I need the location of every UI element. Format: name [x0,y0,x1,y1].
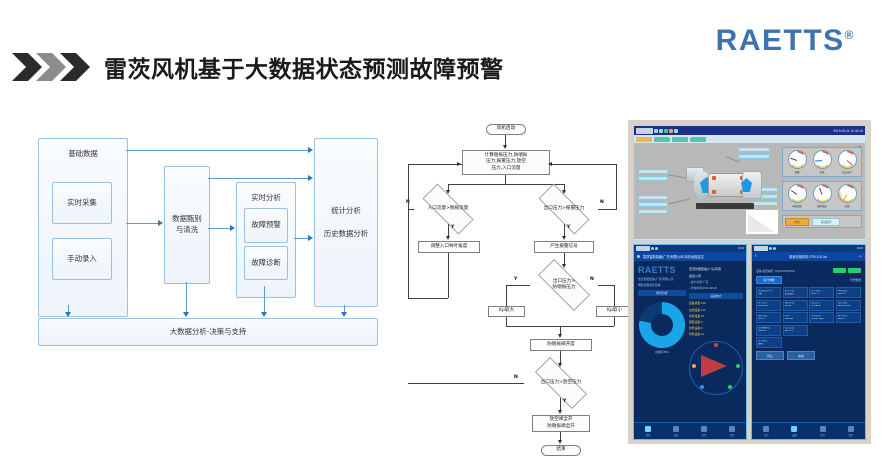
bd-box-manual-entry: 手动录入 [52,238,112,280]
mobile-b-navbar: ‹ 磁悬浮鼓风机 RTB-100-9a ••• [752,252,865,261]
fc-node-alarm-signal: 产生报警信号 [534,241,594,253]
fc-line-kpsmall-down [614,317,615,326]
scada-toolbar-icon-1[interactable] [654,129,658,133]
fc-label-full-open-2: 防喘振阀全开 [547,424,575,430]
mobile-a-nav-title: 雷茨智能装备(广东)有限公司-网机远程监控 [643,254,704,259]
bd-down-arrow-3 [261,312,267,317]
home-icon [763,426,769,432]
mobile-a-section-detail: 设备统计 [689,293,743,299]
fc-label-d2-y: Y [567,225,570,230]
bd-label-fault-diagnosis: 故障诊断 [251,258,281,269]
bd-label-history: 历史数据分析 [324,229,368,240]
triple-chevron-right-icon [12,53,94,81]
fc-label-d4: 出口压力>放空压力 [541,380,582,386]
fc-label-d2: 出口压力>报警压力 [544,206,585,212]
status-badge-normal [848,268,861,273]
control-logic-flowchart: 风机启动 计算喘振压力,防喘振 压力,报警压力,放空 压力,入口流量 入口流量>… [404,120,624,455]
mobile-b-tab-device[interactable]: 设备 [780,423,808,439]
bd-connector-1 [126,150,309,151]
bd-box-screen-clean: 数据甄别 与清洗 [164,166,210,284]
scada-tab-params[interactable] [690,137,706,142]
radar-point-2 [692,364,696,368]
bd-label-fault-warning: 故障预警 [251,220,281,231]
fc-arrow-end [558,440,562,444]
stat-row-1: 设备总数 128 [689,301,743,305]
callout-current [638,195,668,200]
device-metric-grid: 运转累积时间2天 运行状态正常运行 进气温度31.2℃ 电机温度63.8℃ 排气… [756,287,861,336]
mobile-b-tab-user[interactable]: 我的 [837,423,865,439]
scada-start-button[interactable]: 启动 [785,218,809,226]
fc-arrow-loop-left [457,162,461,166]
mobile-a-tab-home[interactable]: 首页 [634,423,662,439]
mobile-b-tabbar: 首页 设备 报警 我的 [752,422,865,439]
fc-node-full-open: 放空阀全开 防喘振阀全开 [532,415,590,432]
bd-label-screen-clean-2: 与清洗 [176,225,198,236]
bd-box-bigdata-support: 大数据分析-决策与支持 [38,318,378,346]
gauge-group-row2: 电机温度 轴承温度 转速 [782,181,862,211]
bd-box-fault-diagnosis: 故障诊断 [244,246,288,280]
radar-point-3 [736,364,740,368]
fc-line-loop-left-h [408,164,462,165]
page-title: 雷茨风机基于大数据状态预测故障预警 [104,50,504,84]
gauge-outlet-pressure: 出口压力 [835,150,859,174]
device-action-row: 停止 启动 [756,351,861,360]
bd-box-statistics: 统计分析 历史数据分析 [314,138,378,307]
metric-tile: 进气温度31.2℃ [809,287,834,298]
metric-tile: 轴承温度46.1℃ [756,312,781,323]
mobile-a-tab-device[interactable]: 设备 [662,423,690,439]
bd-connector-5 [294,238,309,239]
fc-arrow-start [503,145,507,149]
alarm-icon [820,426,826,432]
back-arrow-icon[interactable]: ‹ [755,254,757,259]
callout-motor-temp [638,202,668,207]
bd-label-screen-clean-1: 数据甄别 [172,214,202,225]
scada-toolbar-icon-2[interactable] [659,129,663,133]
stat-row-5: 检修设备 3 [689,326,743,330]
mobile-b-device-label: 设备/装置编号 TSgcTP0Q69TS [756,269,795,273]
fc-arrow-loop-right [548,162,552,166]
mobile-a-company-2: 网机远程监控系统 [638,283,686,287]
mobile-a-section-stats: 概况分析 [638,290,686,296]
scada-tabbar [634,135,865,143]
mobile-b-content: 设备/装置编号 TSgcTP0Q69TS 运行参数 历史数据 运转累积时间2天 … [752,261,865,364]
callout-flow [738,147,770,152]
mobile-a-navbar: 雷茨智能装备(广东)有限公司-网机远程监控 [634,252,746,261]
scada-toolbar-icon-4[interactable] [669,129,673,133]
fc-node-start: 风机启动 [486,124,526,135]
gauge-current-label: 电流 [820,170,825,174]
fc-line-kpbig-down [506,317,507,326]
donut-caption: 在线率 88% [638,350,686,354]
home-icon [645,426,651,432]
fc-label-d4-y: Y [563,399,566,404]
bd-box-basic-data: 基础数据 [38,138,128,317]
fc-node-kp-big: Kp取大 [488,306,525,317]
page-header: 雷茨风机基于大数据状态预测故障预警 RAETTS® [0,0,887,110]
fc-label-a2: 产生报警信号 [550,244,578,250]
gauge-flow-label: 流量 [795,170,800,174]
mobile-a-meta-2: › 查询时间:2019-08-20 [689,286,743,290]
registered-mark: ® [845,28,855,42]
gauge-bearing-temp: 轴承温度 [810,184,834,208]
fc-line-d3-y [506,285,530,286]
fc-line-d3-y-down [506,285,507,306]
gauge-flow: 流量 [785,150,809,174]
mobile-b-statusbar: 10:26 [752,245,865,252]
metric-tile: 变频器输出51.8 Hz [756,325,781,336]
mobile-a-content: RAETTS 雷茨智能装备(广东)有限公司 网机远程监控系统 概况分析 在线率 … [634,261,746,399]
scada-toolbar-icon-3[interactable] [664,129,668,133]
scada-mode-field[interactable]: 自动运行 [812,218,840,226]
scada-brand-logo [636,128,653,134]
metric-tile: 排气压力61.5 kPa [756,300,781,311]
fc-label-d3-y: Y [514,277,517,282]
fc-label-d1: 入口流量>喘振流量 [428,206,469,212]
fc-node-antisurge-valve-opening: 防喘振阀开度 [530,339,592,351]
scada-trend-chart [745,209,779,235]
fc-arrow-d1-y [446,236,450,240]
data-flow-block-diagram: 基础数据 实时采集 手动录入 数据甄别 与清洗 实时分析 故障预警 故障诊断 统… [38,138,390,346]
bd-label-manual-entry: 手动录入 [67,254,97,265]
fc-line-a1-up [408,209,409,298]
fc-decision-outlet-pressure-alarm: 出口压力>报警压力 [528,194,600,224]
fc-label-end: 结束 [556,447,565,453]
bd-arrow-4 [230,225,235,231]
alarm-icon [701,426,707,432]
metric-tile: 出口流量42.6 m³/min [836,300,861,311]
fc-line-split-down [505,175,506,184]
fc-label-kp-small: Kp取小 [607,308,622,314]
bd-arrow-1 [308,147,313,153]
scada-titlebar: 2019-08-21 10:32:18 [634,126,865,135]
fc-label-kp-big: Kp取大 [499,308,514,314]
gauge-speed-label: 转速 [845,204,850,208]
mobile-b-tab-alarm[interactable]: 报警 [809,423,837,439]
status-badge-running [833,268,846,273]
radar-point-4 [700,385,704,389]
fc-line-loop-right-v [616,164,617,210]
mobile-a-statusbar: 10:24 [634,245,746,252]
gauge-current: 电流 [810,150,834,174]
metric-tile: 输入电压380 V [836,312,861,323]
fc-line-a1-down [448,253,449,298]
fc-line-d3-n [598,285,614,286]
metric-tile: 进口压力-1.2 kPa [809,300,834,311]
gauge-motor-temp: 电机温度 [785,184,809,208]
history-data-link[interactable]: 历史数据 [850,278,861,282]
raetts-logo: RAETTS® [716,24,855,58]
gauge-bearing-temp-label: 轴承温度 [817,204,827,208]
operation-radar-chart [689,341,743,395]
bd-label-bigdata-support: 大数据分析-决策与支持 [170,327,247,338]
fc-label-valve-open: 防喘振阀开度 [547,342,575,348]
start-button[interactable]: 启动 [787,351,815,360]
scada-toolbar-icon-5[interactable] [674,129,678,133]
stat-row-2: 在线设备 113 [689,308,743,312]
metric-tile: 运行状态正常运行 [783,287,808,298]
fc-line-loop-left-v [408,164,409,210]
fc-label-d4-n: N [514,375,518,380]
fc-node-compute: 计算喘振压力,防喘振 压力,报警压力,放空 压力,入口流量 [462,150,550,175]
device-icon [673,426,679,432]
scada-control-panel: 启动 自动运行 [782,215,862,228]
bd-connector-2 [208,178,309,179]
bd-connector-4 [208,228,231,229]
scada-canvas: ✕ [634,143,865,239]
device-icon [791,426,797,432]
bd-arrow-2 [308,175,313,181]
mobile-a-tab-alarm[interactable]: 报警 [690,423,718,439]
scada-tab-trend[interactable] [654,137,670,142]
bd-box-fault-warning: 故障预警 [244,208,288,243]
mobile-a-time: 10:24 [738,247,745,250]
mobile-overview-screenshot: 10:24 雷茨智能装备(广东)有限公司-网机远程监控 RAETTS 雷茨智能装… [633,244,747,440]
metric-tile: 出口温度127.6℃ [783,325,808,336]
fc-label-compute-3: 压力,入口流量 [491,166,520,172]
mobile-a-logo: RAETTS [638,265,686,275]
mobile-b-nav-title: 磁悬浮鼓风机 RTB-100-9a [789,254,826,259]
mobile-a-tabbar: 首页 设备 报警 我的 [634,422,746,439]
bd-label-realtime-analysis: 实时分析 [251,193,281,204]
bd-arrow-5 [308,235,313,241]
mobile-a-app-icon [637,255,640,258]
mobile-b-time: 10:26 [857,247,864,250]
mobile-a-meta-1: › 客户名称:广东 [689,280,743,284]
stat-row-3: 离线设备 15 [689,314,743,318]
metric-tile: 功率55.3 kW [783,312,808,323]
fc-line-d4-n [408,383,524,384]
bd-down-arrow-2 [183,312,189,317]
mobile-a-detail-title-1: 雷茨智能装备(广东)有限 [689,267,743,272]
callout-speed [638,209,668,214]
radar-point-5 [728,385,732,389]
fc-node-end: 结束 [541,445,581,456]
bd-arrow-3 [158,220,163,226]
fc-line-loop-right-h [551,164,616,165]
metric-tile: 运转累积时间2天 [756,287,781,298]
fc-decision-antisurge-pressure: 出口压力> 防喘振压力 [528,269,600,301]
bd-down-3 [264,286,265,313]
mobile-a-company-1: 雷茨智能装备(广东)有限公司 [638,277,686,281]
scada-tab-home[interactable] [636,137,652,142]
stat-row-6: 停机设备 12 [689,332,743,336]
fc-label-d1-y: Y [451,225,454,230]
bd-down-arrow-1 [65,312,71,317]
user-icon [729,426,735,432]
runtime-params-button[interactable]: 运行参数 [756,276,782,284]
callout-inlet-temp [638,169,668,174]
gauge-outlet-pressure-label: 出口压力 [842,170,852,174]
stat-row-4: 报警设备 6 [689,320,743,324]
scada-hmi-screenshot: 2019-08-21 10:32:18 ✕ [633,125,866,241]
online-rate-donut-chart [639,302,685,348]
metric-tile: 电机温度63.8℃ [836,287,861,298]
gauge-motor-temp-label: 电机温度 [792,204,802,208]
mobile-a-detail-title-2: 责任公司 [689,274,743,279]
fc-arrow-valve [558,334,562,338]
radar-point-1 [714,343,718,347]
metric-tile: 电机转速31 417 rpm [809,312,834,323]
fc-line-split-h [448,184,564,185]
metric-tile: 输出电流84.0 A [783,300,808,311]
fc-node-adjust-guide-vane: 调整入口导叶角度 [418,241,480,253]
fc-line-a1-left [408,298,448,299]
mobile-device-detail-screenshot: 10:26 ‹ 磁悬浮鼓风机 RTB-100-9a ••• 设备/装置编号 TS… [751,244,866,440]
fc-label-d2-n: N [600,200,604,205]
bd-label-statistics: 统计分析 [331,206,361,217]
fc-decision-blowoff-pressure: 出口压力>放空压力 [524,368,598,398]
stop-button[interactable]: 停止 [756,351,784,360]
fc-label-d3-1: 出口压力> [553,279,575,284]
scada-clock: 2019-08-21 10:32:18 [833,129,863,133]
user-icon [848,426,854,432]
fc-arrow-d2-y [562,236,566,240]
fc-label-d3-n: N [590,277,594,282]
mobile-a-tab-user[interactable]: 我的 [718,423,746,439]
fc-label-d3-2: 防喘振压力 [553,285,576,290]
gauge-group-row1: 流量 电流 出口压力 [782,147,862,177]
callout-inlet-pressure [638,176,668,181]
fc-label-start: 风机启动 [497,126,515,132]
compressor-schematic [686,159,764,211]
metric-tile: 运行模式自动 [756,337,782,348]
bd-connector-3 [126,223,159,224]
mobile-b-tab-home[interactable]: 首页 [752,423,780,439]
fc-label-d3: 出口压力> 防喘振压力 [553,279,576,291]
fc-line-d3-n-down [614,285,615,306]
scada-tab-alarm[interactable] [672,137,688,142]
fc-line-d2-n [598,209,616,210]
bd-box-realtime-collect: 实时采集 [52,182,112,224]
callout-lead-2 [668,174,688,178]
logo-text: RAETTS [716,24,845,57]
fc-label-a1: 调整入口导叶角度 [431,244,468,250]
bd-down-arrow-4 [341,312,347,317]
fc-arrow-d4-y [558,410,562,414]
bd-down-2 [186,282,187,313]
bd-label-basic-data: 基础数据 [68,149,98,160]
gauge-speed: 转速 [835,184,859,208]
fc-decision-inlet-flow: 入口流量>喘振流量 [412,194,484,224]
bd-label-realtime-collect: 实时采集 [67,198,97,209]
more-icon[interactable]: ••• [859,255,862,258]
product-screenshot-collage: 2019-08-21 10:32:18 ✕ [628,120,871,444]
